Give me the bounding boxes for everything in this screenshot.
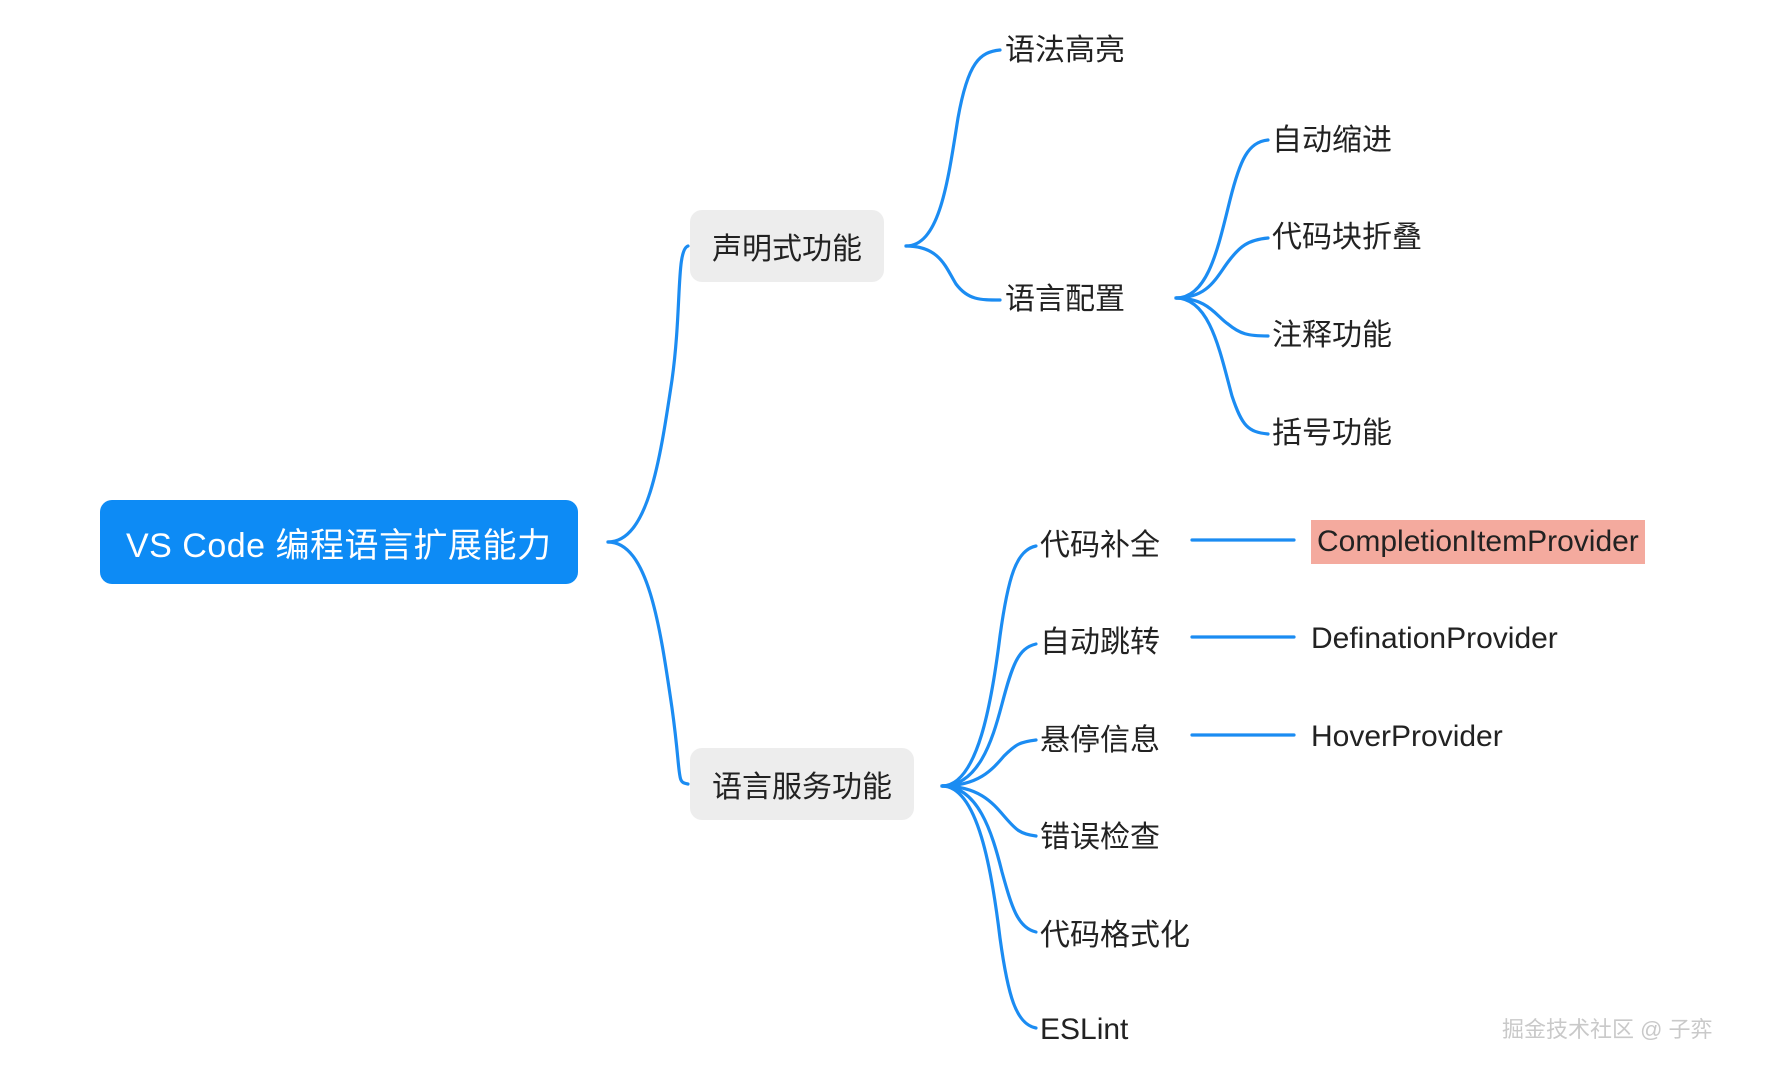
leaf-node-code-format-label: 代码格式化 [1040, 910, 1190, 954]
edge-langconf-to-bracket [1176, 298, 1268, 434]
edge-langservice-to-error-check [942, 786, 1036, 836]
leaf-node-comment-feature-label: 注释功能 [1272, 310, 1392, 354]
leaf-node-bracket-feature[interactable]: 括号功能 [1272, 408, 1392, 452]
watermark-label: 掘金技术社区 @ 子弈 [1502, 1017, 1713, 1042]
provider-node-hover-provider-label: HoverProvider [1311, 720, 1503, 754]
branch-node-language-service-label: 语言服务功能 [712, 762, 892, 806]
branch-node-declarative[interactable]: 声明式功能 [690, 210, 884, 282]
leaf-node-syntax-highlight[interactable]: 语法高亮 [1005, 25, 1125, 69]
leaf-node-language-configuration[interactable]: 语言配置 [1005, 274, 1125, 318]
leaf-node-error-check[interactable]: 错误检查 [1040, 812, 1160, 856]
mindmap-canvas: VS Code 编程语言扩展能力 声明式功能 语法高亮 语言配置 自动缩进 代码… [0, 0, 1788, 1074]
watermark: 掘金技术社区 @ 子弈 [1502, 1012, 1713, 1044]
root-node[interactable]: VS Code 编程语言扩展能力 [100, 500, 578, 584]
leaf-node-auto-indent-label: 自动缩进 [1272, 115, 1392, 159]
edge-langservice-to-code-completion [942, 546, 1036, 786]
leaf-node-bracket-feature-label: 括号功能 [1272, 408, 1392, 452]
leaf-node-code-folding-label: 代码块折叠 [1272, 212, 1422, 256]
edge-langconf-to-auto-indent [1176, 140, 1268, 298]
provider-node-completion-item-provider-label: CompletionItemProvider [1317, 525, 1639, 559]
leaf-node-code-completion[interactable]: 代码补全 [1040, 520, 1160, 564]
leaf-node-hover-info-label: 悬停信息 [1040, 715, 1160, 759]
leaf-node-code-completion-label: 代码补全 [1040, 520, 1160, 564]
leaf-node-auto-indent[interactable]: 自动缩进 [1272, 115, 1392, 159]
leaf-node-hover-info[interactable]: 悬停信息 [1040, 715, 1160, 759]
edge-declarative-to-language-configuration [906, 246, 1000, 300]
leaf-node-goto-definition-label: 自动跳转 [1040, 617, 1160, 661]
leaf-node-code-folding[interactable]: 代码块折叠 [1272, 212, 1422, 256]
edge-root-to-language-service [608, 542, 688, 784]
leaf-node-eslint-label: ESLint [1040, 1013, 1128, 1047]
edge-langservice-to-hover-info [942, 740, 1036, 786]
leaf-node-code-format[interactable]: 代码格式化 [1040, 910, 1190, 954]
edge-langconf-to-comment [1176, 298, 1268, 336]
leaf-node-syntax-highlight-label: 语法高亮 [1005, 25, 1125, 69]
provider-node-defination-provider-label: DefinationProvider [1311, 622, 1558, 656]
root-node-label: VS Code 编程语言扩展能力 [126, 518, 552, 567]
leaf-node-comment-feature[interactable]: 注释功能 [1272, 310, 1392, 354]
edge-declarative-to-syntax-highlight [906, 50, 1000, 246]
leaf-node-error-check-label: 错误检查 [1040, 812, 1160, 856]
leaf-node-goto-definition[interactable]: 自动跳转 [1040, 617, 1160, 661]
edge-langservice-to-eslint [942, 786, 1036, 1028]
provider-node-hover-provider[interactable]: HoverProvider [1311, 715, 1503, 759]
branch-node-language-service[interactable]: 语言服务功能 [690, 748, 914, 820]
edge-langconf-to-code-folding [1176, 238, 1268, 298]
provider-node-completion-item-provider[interactable]: CompletionItemProvider [1311, 520, 1645, 564]
leaf-node-eslint[interactable]: ESLint [1040, 1008, 1128, 1052]
provider-node-defination-provider[interactable]: DefinationProvider [1311, 617, 1558, 661]
edge-langservice-to-goto-definition [942, 644, 1036, 786]
edge-langservice-to-code-format [942, 786, 1036, 932]
leaf-node-language-configuration-label: 语言配置 [1005, 274, 1125, 318]
edge-root-to-declarative [608, 246, 688, 542]
branch-node-declarative-label: 声明式功能 [712, 224, 862, 268]
